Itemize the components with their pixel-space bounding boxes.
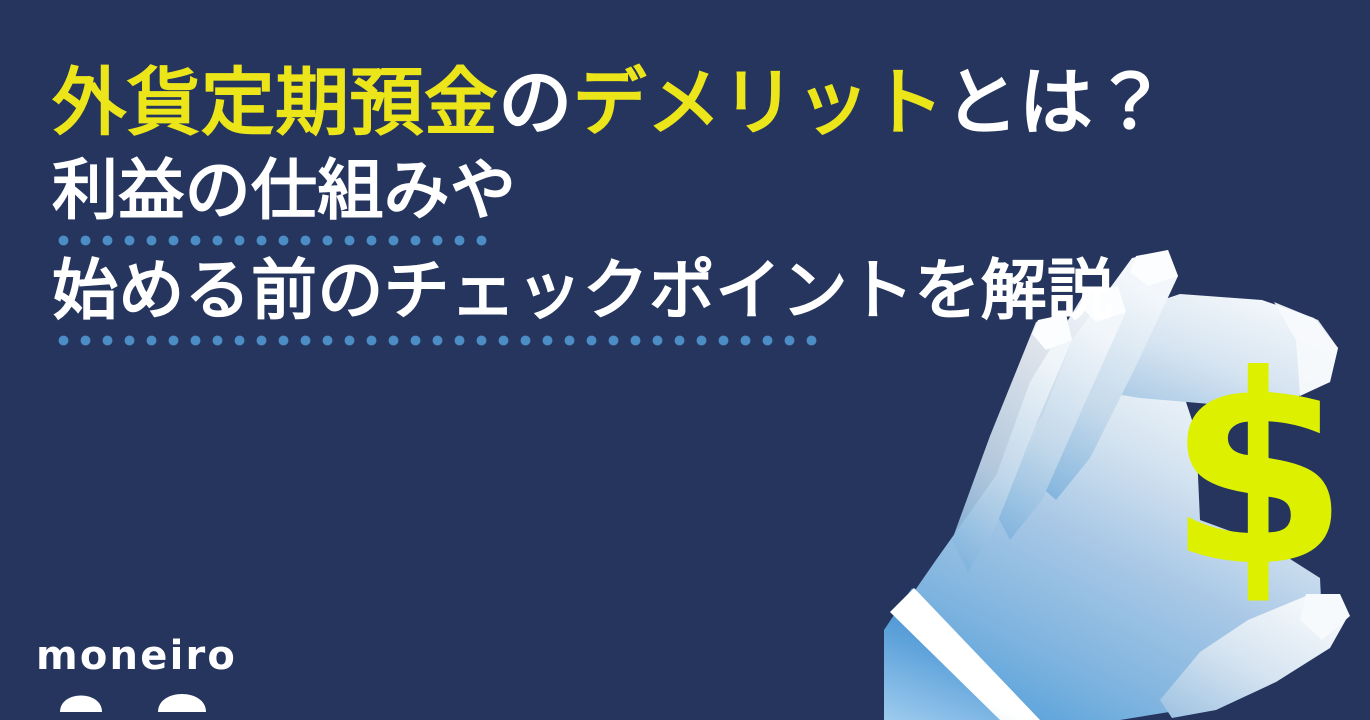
- forearm-sleeve: [884, 588, 1072, 720]
- logo-wordmark: moneiro: [36, 636, 237, 676]
- headline-line-3: 始める前のチェックポイントを解説: [52, 258, 1112, 348]
- headline-line-2-text: 利益の仕組みや: [52, 152, 516, 229]
- headline-line-2: 利益の仕組みや: [52, 158, 1112, 248]
- headline-seg-2: の: [498, 60, 572, 146]
- cuff-stripe: [890, 588, 1040, 720]
- dollar-sign: $: [1167, 319, 1349, 624]
- little-finger: [952, 314, 1072, 572]
- dotted-underline-1: [58, 235, 492, 246]
- thumb: [1160, 594, 1350, 718]
- headline-block: 外貨定期預金のデメリットとは？ 利益の仕組みや 始める前のチェックポイントを解説: [52, 66, 1112, 348]
- headline-line-3-text: 始める前のチェックポイントを解説: [52, 252, 1113, 329]
- headline-seg-1: 外貨定期預金: [52, 60, 498, 146]
- dollar-glyph: $: [1167, 319, 1349, 624]
- thumbnail-canvas: $ 外貨定期預金のデメリットとは？ 利益の仕組みや 始める前のチェックポイントを…: [0, 0, 1370, 720]
- headline-seg-3: デメリット: [573, 60, 945, 146]
- palm: [900, 376, 1322, 720]
- dotted-underline-2: [58, 335, 822, 346]
- moneiro-logo[interactable]: moneiro: [36, 636, 226, 706]
- headline-seg-4: とは？: [944, 60, 1167, 146]
- headline-line-1: 外貨定期預金のデメリットとは？: [52, 66, 1112, 140]
